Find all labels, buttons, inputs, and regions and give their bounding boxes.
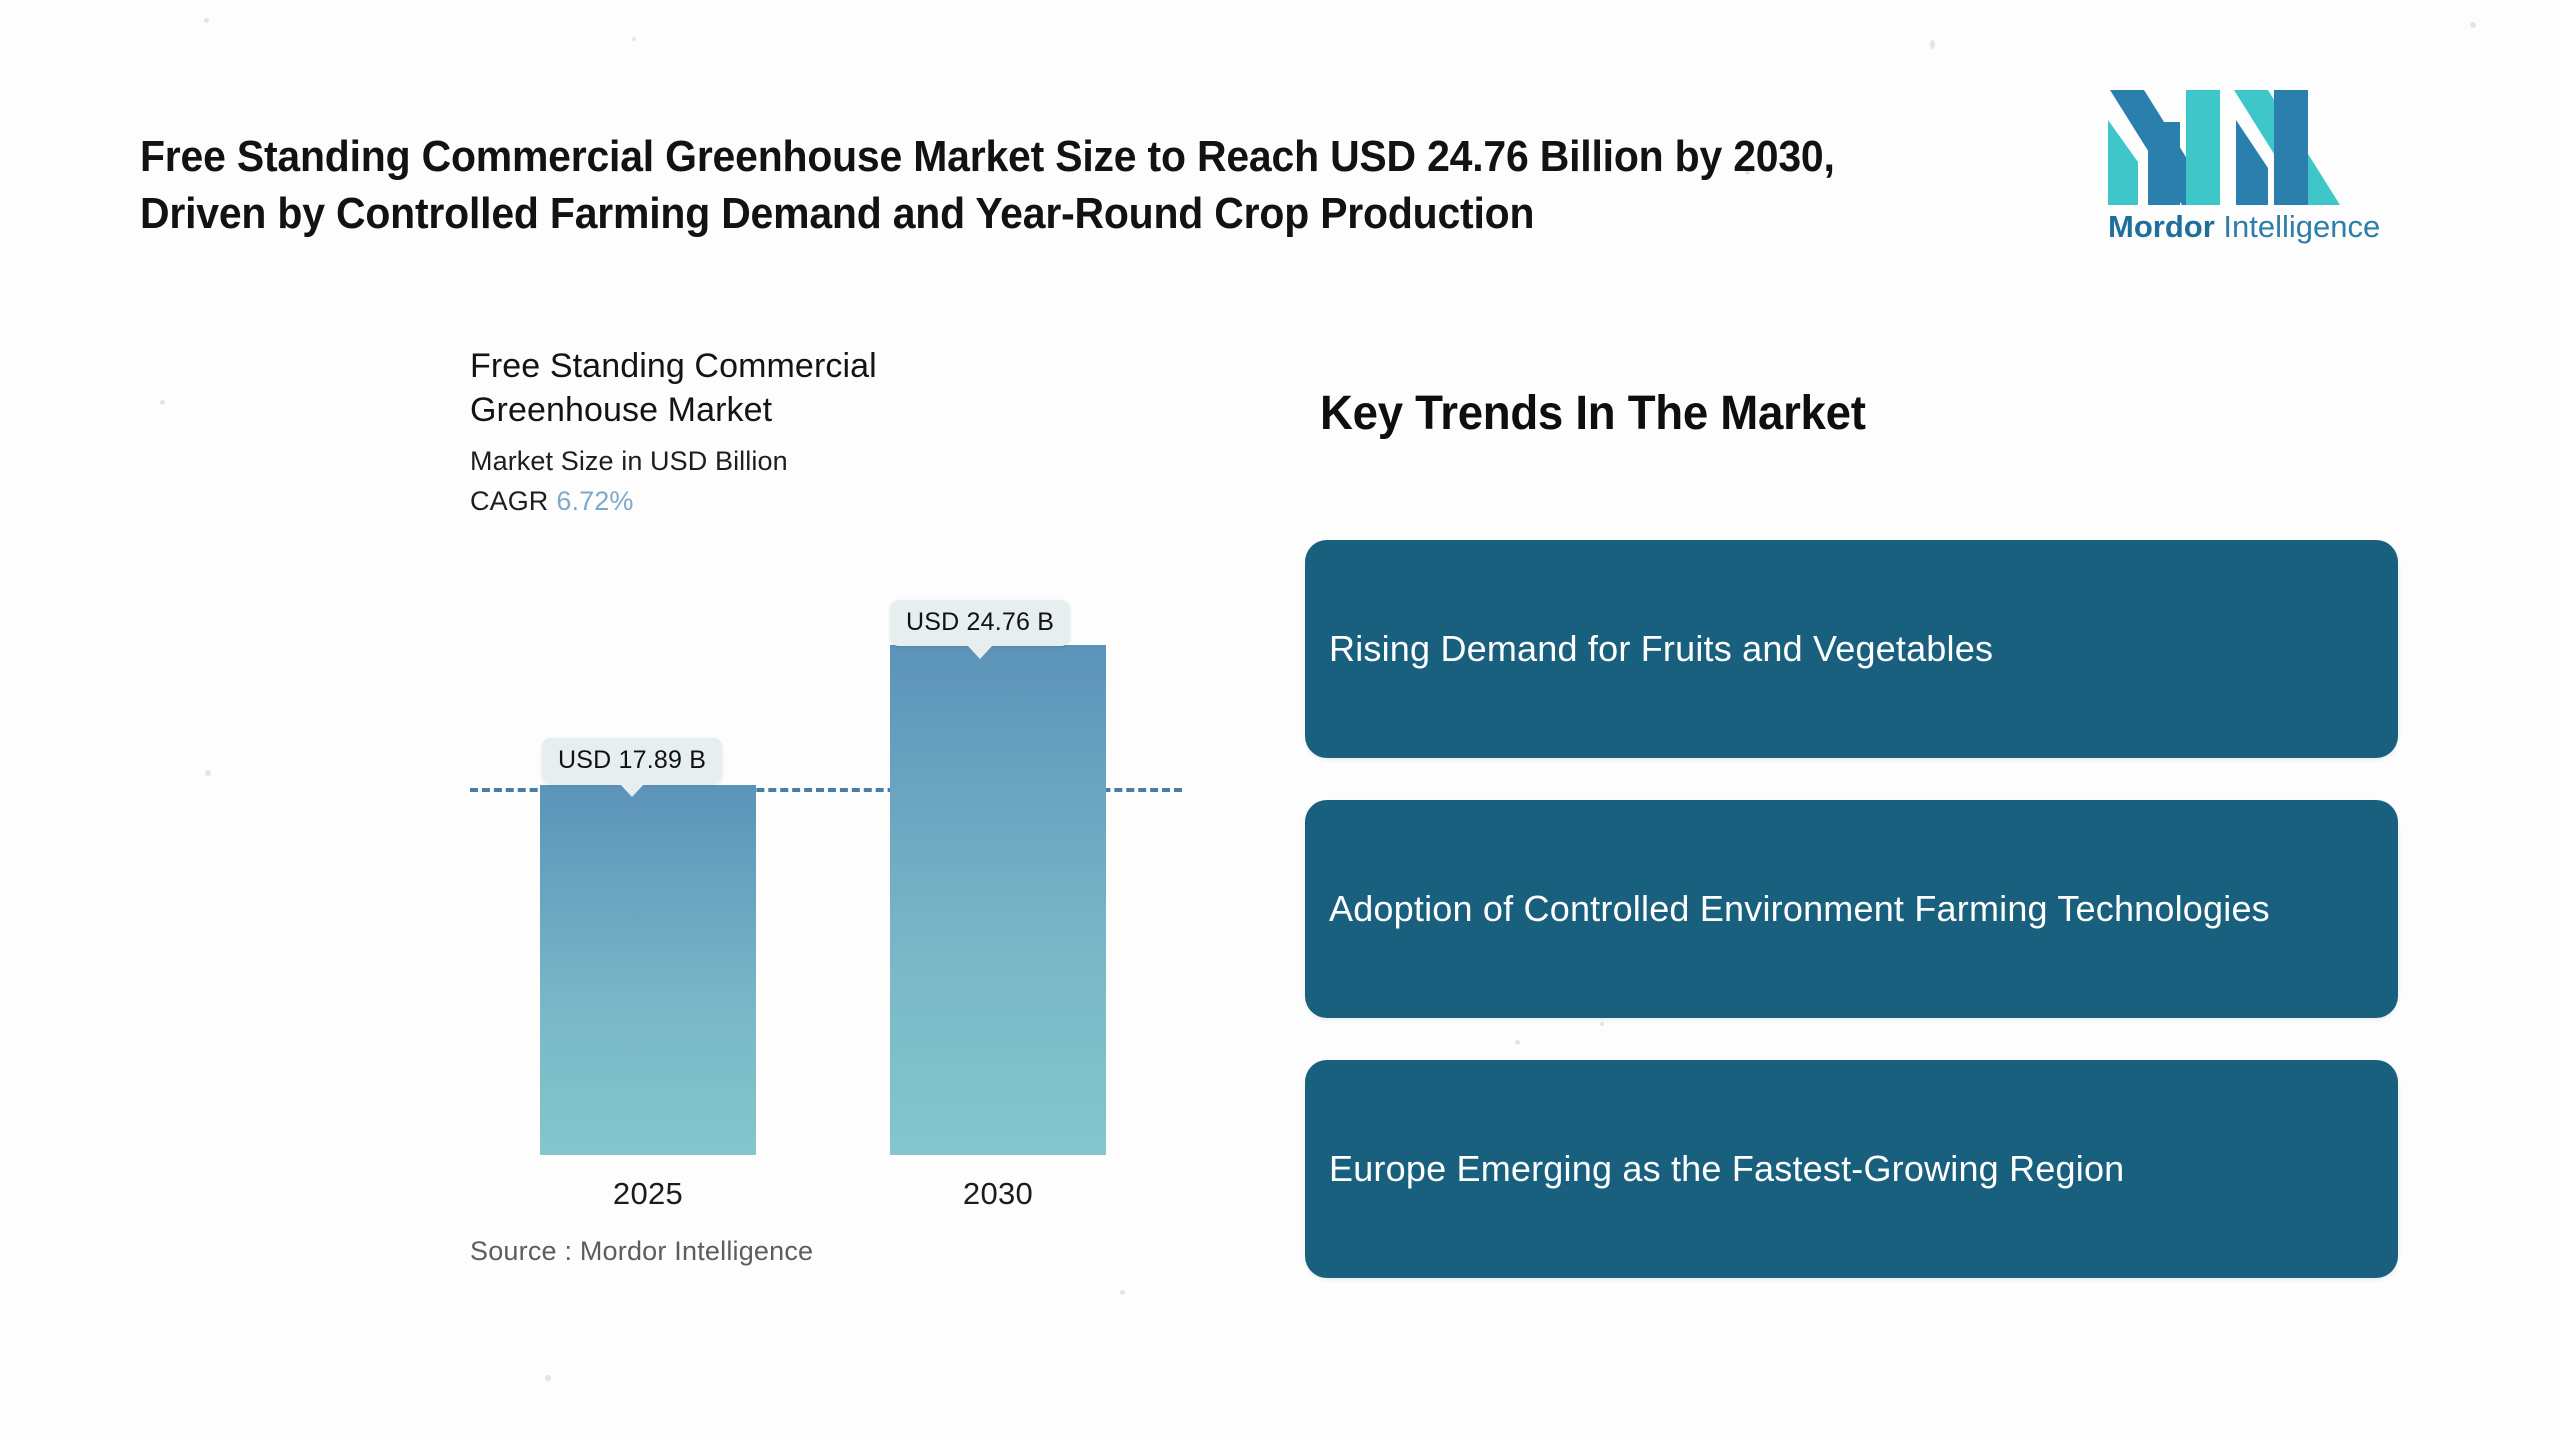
source-name: Mordor Intelligence [580, 1236, 813, 1266]
key-trends-list: Rising Demand for Fruits and Vegetables … [1305, 540, 2398, 1320]
cagr-value: 6.72% [556, 486, 633, 516]
brand-name-bold: Mordor [2108, 209, 2215, 244]
speckle [545, 1375, 551, 1381]
x-axis-label-2030: 2030 [890, 1176, 1106, 1212]
bar-2025 [540, 785, 756, 1155]
key-trends-heading: Key Trends In The Market [1320, 386, 1866, 441]
trend-card-label: Rising Demand for Fruits and Vegetables [1305, 623, 2021, 674]
x-axis-label-2025: 2025 [540, 1176, 756, 1212]
trend-card-label: Adoption of Controlled Environment Farmi… [1305, 883, 2298, 934]
speckle [204, 18, 209, 23]
chart-subtitle: Market Size in USD Billion [470, 446, 1200, 477]
mordor-m-logo-icon [2108, 90, 2340, 205]
chart-cagr: CAGR6.72% [470, 486, 1200, 517]
trend-card[interactable]: Rising Demand for Fruits and Vegetables [1305, 540, 2398, 758]
chart-title: Free Standing Commercial Greenhouse Mark… [470, 345, 970, 432]
source-text: Source : Mordor Intelligence [470, 1236, 813, 1267]
trend-card[interactable]: Adoption of Controlled Environment Farmi… [1305, 800, 2398, 1018]
chart-header: Free Standing Commercial Greenhouse Mark… [470, 345, 1200, 517]
trend-card-label: Europe Emerging as the Fastest-Growing R… [1305, 1143, 2152, 1194]
cagr-label: CAGR [470, 486, 548, 516]
brand-name-light: Intelligence [2223, 209, 2380, 244]
source-label: Source : [470, 1236, 572, 1266]
bar-2030 [890, 645, 1106, 1155]
speckle [1930, 40, 1935, 49]
chart-source-row: Source : Mordor Intelligence [470, 1232, 1200, 1292]
bar-chart-plot: USD 17.89 B USD 24.76 B 2025 2030 [470, 620, 1200, 1220]
speckle [160, 400, 165, 405]
speckle [205, 770, 211, 776]
infographic-canvas: Free Standing Commercial Greenhouse Mark… [0, 0, 2560, 1440]
brand-wordmark: Mordor Intelligence [2108, 211, 2378, 242]
trend-card[interactable]: Europe Emerging as the Fastest-Growing R… [1305, 1060, 2398, 1278]
brand-logo: Mordor Intelligence [2108, 90, 2378, 242]
speckle [632, 37, 636, 41]
speckle [2470, 22, 2476, 28]
page-title: Free Standing Commercial Greenhouse Mark… [140, 128, 1926, 242]
data-label-2025: USD 17.89 B [542, 738, 722, 784]
data-label-2030: USD 24.76 B [890, 600, 1070, 646]
